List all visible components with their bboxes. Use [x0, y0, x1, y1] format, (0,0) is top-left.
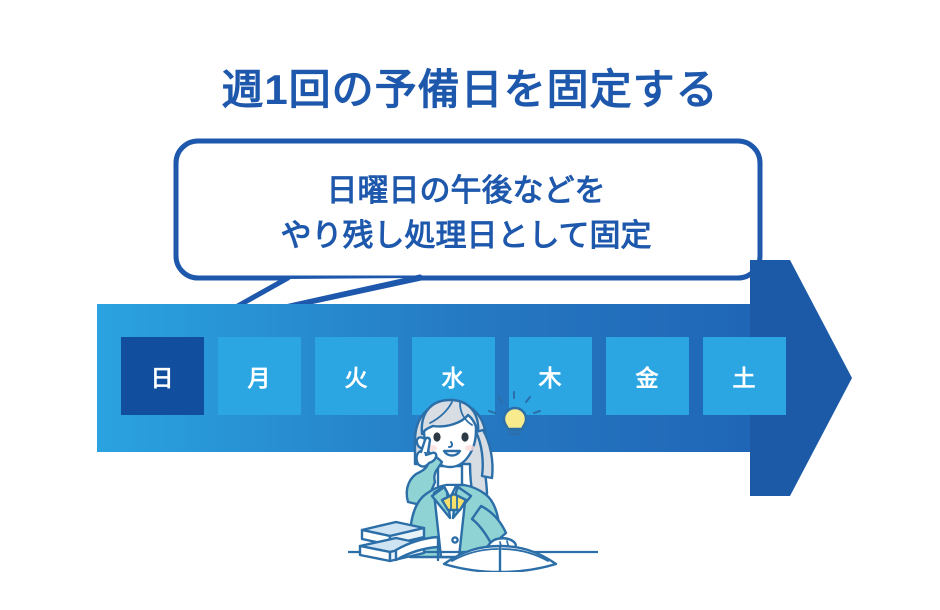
- day-box-sunday[interactable]: 日: [121, 337, 204, 415]
- day-box-saturday[interactable]: 土: [703, 337, 786, 415]
- lightbulb-icon: [489, 392, 540, 434]
- day-label: 日: [151, 359, 175, 393]
- day-box-friday[interactable]: 金: [606, 337, 689, 415]
- day-label: 土: [733, 359, 757, 393]
- day-label: 月: [248, 359, 272, 393]
- speech-bubble-text: 日曜日の午後などを やり残し処理日として固定: [168, 169, 764, 259]
- day-box-monday[interactable]: 月: [218, 337, 301, 415]
- student-thinking-illustration: [348, 382, 598, 572]
- page-title: 週1回の予備日を固定する: [0, 56, 940, 117]
- day-label: 金: [636, 359, 660, 393]
